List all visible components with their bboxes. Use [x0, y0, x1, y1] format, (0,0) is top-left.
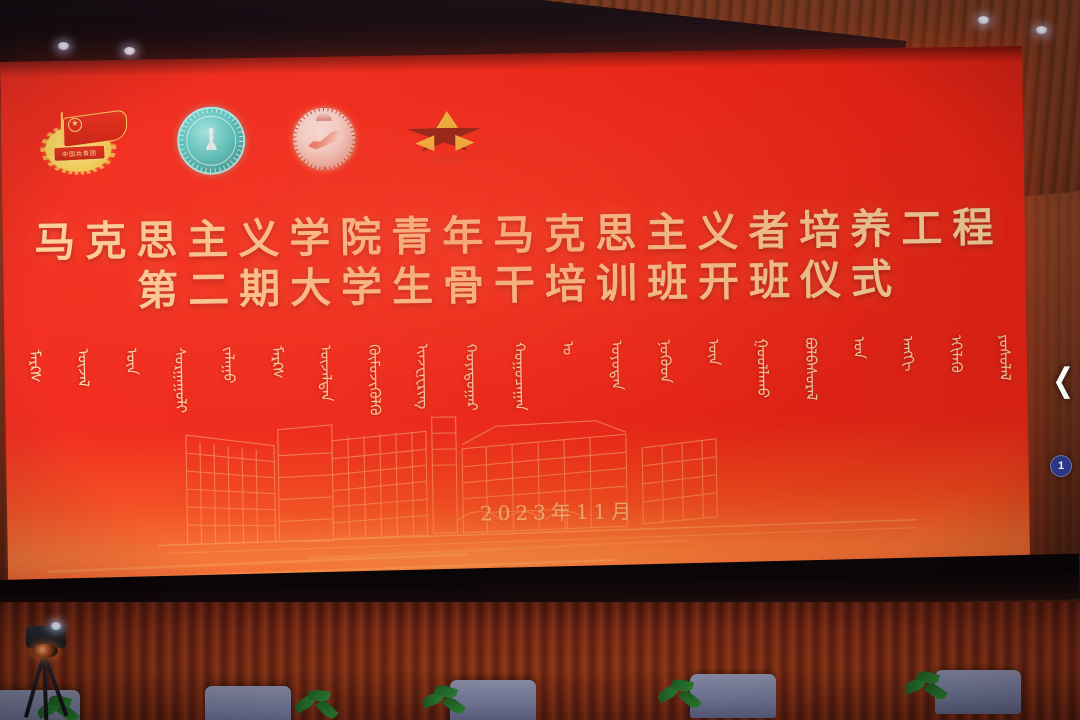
camera-light: [50, 622, 62, 630]
mongolian-word: ᠣᠶᠤᠲᠠᠨ: [608, 340, 624, 390]
triangle-top-icon: [436, 111, 458, 128]
mongolian-word: ᠡᠬᠢᠯᠡᠬᠦ: [948, 335, 964, 373]
mongolian-word: ᠬᠣᠶᠠᠳᠤᠭᠠᠷ: [463, 343, 479, 411]
plant-leaf: [315, 698, 338, 720]
mongolian-word: ᠢᠨᠵᠧᠨᠧᠷᠢᠩ: [414, 343, 430, 409]
logo-subtitle: 青马工程: [410, 154, 482, 164]
video-camera-on-tripod: [12, 620, 82, 720]
mongolian-word: ᠬᠤᠭᠤᠴᠠᠭᠠᠨ: [511, 342, 527, 411]
mongolian-word: ᠦᠨ: [705, 339, 720, 366]
mongolian-word: ᠠᠩᠭᠢ: [899, 336, 915, 372]
teal-university-seal: [177, 106, 246, 175]
slide-number-badge[interactable]: 1: [1050, 455, 1072, 477]
mongolian-word: ᠰᠤᠷᠭᠠᠭᠤᠯᠢ: [172, 347, 188, 413]
mongolian-word: ᠵᠠᠯᠠᠭᠤ: [220, 346, 236, 383]
red-horse-university-seal: [291, 105, 358, 172]
mongolian-word: ᠦᠵᠡᠯᠲᠡᠨ: [317, 345, 333, 402]
mongolian-word: ᠬᠦᠮᠦᠵᠢᠭᠦᠯᠬᠦ: [366, 344, 382, 416]
plant-leaf: [678, 688, 702, 711]
mongolian-word: ᠦᠵᠡᠯ: [75, 349, 91, 388]
communist-youth-league-emblem: ★ 中国共青团: [37, 109, 132, 176]
ceiling-spotlight: [977, 16, 990, 25]
ceiling-spotlight: [123, 47, 136, 56]
ceiling-spotlight: [1035, 26, 1048, 35]
mongolian-word: ᠤ: [560, 341, 575, 355]
ceiling-spotlight: [57, 42, 70, 51]
led-backdrop-screen: ★ 中国共青团 青马工程 马克思主义学: [0, 46, 1030, 592]
yellow-star-logo: 青马工程: [403, 106, 488, 167]
mongolian-word: ᠦᠨ: [124, 348, 139, 375]
potted-plant: [655, 672, 701, 720]
mongolian-word: ᠤᠨ: [851, 336, 866, 359]
plant-leaf: [442, 694, 466, 716]
screenshot-root: ★ 中国共青团 青马工程 马克思主义学: [0, 0, 1080, 720]
potted-plant: [902, 666, 948, 714]
potted-plant: [420, 678, 466, 720]
camera-lens-icon: [32, 644, 58, 658]
mongolian-word: ᠶᠣᠰᠣᠯᠠᠯ: [996, 334, 1012, 381]
prev-slide-arrow-icon[interactable]: ❮: [1052, 365, 1074, 398]
potted-plant: [292, 680, 338, 720]
page-title: 马克思主义学院青年马克思主义者培养工程 第二期大学生骨干培训班开班仪式: [2, 202, 1025, 318]
triangle-right-icon: [455, 135, 474, 151]
triangle-left-icon: [415, 135, 434, 151]
mongolian-word: ᠭᠣᠣᠯᠯᠠᠬᠤ: [754, 338, 770, 398]
plant-leaf: [924, 681, 948, 703]
mongolian-word: ᠨᠤᠭᠦᠳ: [657, 339, 673, 383]
chair: [690, 674, 776, 718]
mongolian-word: ᠮᠠᠷᠺᠰ: [27, 349, 43, 382]
mongolian-word: ᠪᠣᠯᠪᠠᠰᠤᠷᠠᠯ: [802, 337, 818, 400]
mongolian-word: ᠮᠠᠷᠺᠰ: [269, 346, 285, 379]
emblem-row: ★ 中国共青团 青马工程: [37, 102, 488, 177]
chair: [205, 686, 291, 720]
emblem-ribbon-label: 中国共青团: [53, 144, 106, 162]
